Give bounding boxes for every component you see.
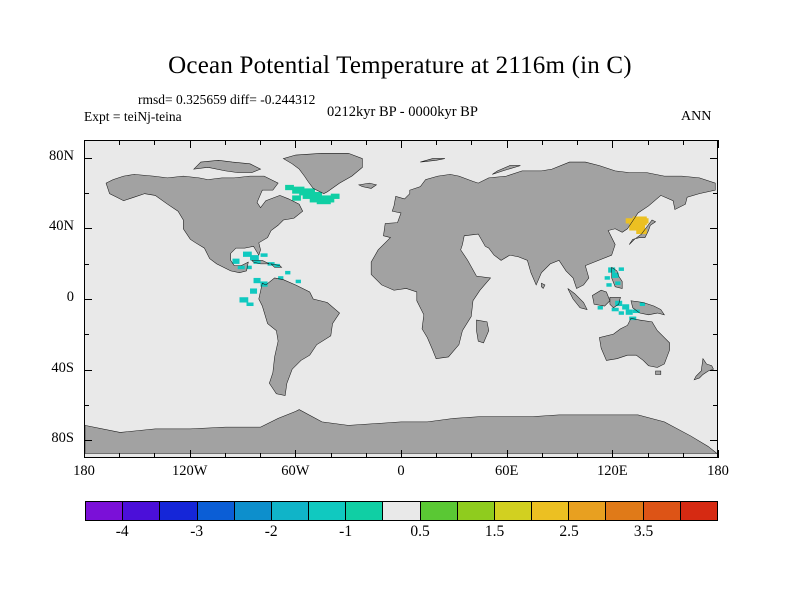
y-tick bbox=[84, 440, 92, 441]
anomaly-patch bbox=[232, 259, 239, 264]
colorbar-cell[interactable] bbox=[458, 502, 495, 520]
x-tick bbox=[154, 140, 155, 145]
anomaly-patch bbox=[250, 288, 257, 293]
anomaly-patch bbox=[615, 281, 620, 285]
x-tick bbox=[331, 453, 332, 458]
anomaly-patch bbox=[606, 283, 611, 287]
y-axis-label: 80N bbox=[22, 148, 74, 165]
world-map-svg bbox=[85, 141, 717, 457]
x-axis-label: 180 bbox=[49, 463, 119, 480]
anomaly-patch bbox=[296, 280, 301, 284]
colorbar-cell[interactable] bbox=[421, 502, 458, 520]
anomaly-patch bbox=[598, 306, 603, 310]
anomaly-patch bbox=[619, 267, 624, 271]
x-tick bbox=[260, 453, 261, 458]
x-axis-label: 0 bbox=[366, 463, 436, 480]
x-tick bbox=[683, 453, 684, 458]
colorbar-cell[interactable] bbox=[644, 502, 681, 520]
anomaly-patch bbox=[261, 253, 268, 257]
colorbar-tick-label: 2.5 bbox=[539, 523, 599, 541]
x-tick bbox=[366, 140, 367, 145]
experiment-label: Expt = teiNj-teina bbox=[84, 109, 182, 125]
anomaly-patch bbox=[640, 218, 649, 223]
x-tick bbox=[119, 140, 120, 145]
y-tick bbox=[84, 158, 92, 159]
y-tick bbox=[84, 228, 92, 229]
y-axis-label: 40N bbox=[22, 218, 74, 235]
anomaly-patch bbox=[238, 266, 245, 270]
x-tick bbox=[648, 140, 649, 145]
colorbar-cell[interactable] bbox=[606, 502, 643, 520]
y-tick bbox=[84, 264, 89, 265]
colorbar-cell[interactable] bbox=[309, 502, 346, 520]
landmass bbox=[194, 160, 261, 172]
colorbar-cell[interactable] bbox=[123, 502, 160, 520]
landmass bbox=[656, 371, 661, 375]
x-tick bbox=[190, 450, 191, 458]
x-tick bbox=[718, 450, 719, 458]
x-tick bbox=[577, 453, 578, 458]
x-tick bbox=[507, 450, 508, 458]
x-tick bbox=[295, 450, 296, 458]
colorbar-cell[interactable] bbox=[272, 502, 309, 520]
y-axis-label: 80S bbox=[22, 430, 74, 447]
x-tick bbox=[683, 140, 684, 145]
x-tick bbox=[507, 140, 508, 148]
colorbar-cell[interactable] bbox=[532, 502, 569, 520]
x-tick bbox=[648, 453, 649, 458]
anomaly-patch bbox=[285, 185, 294, 190]
x-tick bbox=[84, 140, 85, 148]
statistics-label: rmsd= 0.325659 diff= -0.244312 bbox=[138, 92, 315, 108]
y-tick bbox=[84, 299, 92, 300]
anomaly-patch bbox=[331, 194, 340, 199]
x-tick bbox=[436, 140, 437, 145]
anomaly-patch bbox=[605, 276, 610, 280]
y-axis-label: 0 bbox=[22, 289, 74, 306]
x-tick bbox=[119, 453, 120, 458]
anomaly-patch bbox=[239, 297, 248, 302]
landmass bbox=[85, 410, 717, 454]
x-tick bbox=[331, 140, 332, 145]
landmass bbox=[568, 288, 587, 309]
colorbar-cell[interactable] bbox=[383, 502, 420, 520]
colorbar[interactable] bbox=[85, 501, 718, 521]
colorbar-tick-label: -2 bbox=[241, 523, 301, 541]
x-tick bbox=[612, 450, 613, 458]
x-tick bbox=[401, 140, 402, 148]
y-tick bbox=[84, 193, 89, 194]
anomaly-patch bbox=[619, 311, 624, 315]
map-frame bbox=[84, 140, 718, 458]
landmass bbox=[371, 162, 715, 359]
x-axis-label: 120E bbox=[577, 463, 647, 480]
x-tick bbox=[154, 453, 155, 458]
x-tick bbox=[471, 140, 472, 145]
x-tick bbox=[718, 140, 719, 148]
y-tick bbox=[84, 370, 92, 371]
colorbar-cell[interactable] bbox=[346, 502, 383, 520]
colorbar-cell[interactable] bbox=[569, 502, 606, 520]
y-tick bbox=[710, 228, 718, 229]
colorbar-cell[interactable] bbox=[198, 502, 235, 520]
colorbar-tick-label: -3 bbox=[167, 523, 227, 541]
land-layer bbox=[85, 153, 717, 453]
map-plot-area bbox=[84, 140, 718, 458]
anomaly-patch bbox=[626, 310, 633, 315]
x-tick bbox=[295, 140, 296, 148]
colorbar-cell[interactable] bbox=[160, 502, 197, 520]
x-tick bbox=[612, 140, 613, 148]
landmass bbox=[476, 320, 488, 343]
x-axis-label: 120W bbox=[155, 463, 225, 480]
anomaly-patch bbox=[250, 255, 259, 260]
y-tick bbox=[84, 334, 89, 335]
x-tick bbox=[225, 140, 226, 145]
y-tick bbox=[710, 370, 718, 371]
season-label: ANN bbox=[681, 109, 711, 125]
x-axis-label: 180 bbox=[683, 463, 753, 480]
anomaly-patch bbox=[247, 303, 254, 307]
y-axis-label: 40S bbox=[22, 360, 74, 377]
x-axis-label: 60W bbox=[260, 463, 330, 480]
x-tick bbox=[225, 453, 226, 458]
x-tick bbox=[260, 140, 261, 145]
x-tick bbox=[190, 140, 191, 148]
x-tick bbox=[577, 140, 578, 145]
colorbar-tick-label: 0.5 bbox=[390, 523, 450, 541]
anomaly-patch bbox=[292, 195, 301, 200]
colorbar-tick-label: -4 bbox=[92, 523, 152, 541]
colorbar-cell[interactable] bbox=[495, 502, 532, 520]
anomaly-patch bbox=[285, 271, 290, 275]
y-tick bbox=[84, 405, 89, 406]
colorbar-tick-label: 1.5 bbox=[465, 523, 525, 541]
colorbar-tick-label: -1 bbox=[316, 523, 376, 541]
colorbar-cell[interactable] bbox=[235, 502, 272, 520]
anomaly-patch bbox=[254, 278, 261, 283]
x-tick bbox=[366, 453, 367, 458]
x-tick bbox=[436, 453, 437, 458]
x-tick bbox=[84, 450, 85, 458]
x-tick bbox=[471, 453, 472, 458]
landmass bbox=[106, 174, 303, 272]
x-tick bbox=[542, 453, 543, 458]
anomaly-patch bbox=[626, 218, 635, 223]
page-title: Ocean Potential Temperature at 2116m (in… bbox=[0, 52, 800, 80]
y-tick bbox=[713, 264, 718, 265]
y-tick bbox=[713, 193, 718, 194]
x-tick bbox=[401, 450, 402, 458]
y-tick bbox=[710, 299, 718, 300]
anomaly-patch bbox=[612, 308, 619, 312]
x-tick bbox=[542, 140, 543, 145]
period-label: 0212kyr BP - 0000kyr BP bbox=[327, 104, 478, 121]
y-tick bbox=[713, 405, 718, 406]
y-tick bbox=[713, 334, 718, 335]
x-axis-label: 60E bbox=[472, 463, 542, 480]
anomaly-patch bbox=[622, 304, 629, 309]
colorbar-cell[interactable] bbox=[681, 502, 717, 520]
colorbar-tick-label: 3.5 bbox=[614, 523, 674, 541]
colorbar-cell[interactable] bbox=[86, 502, 123, 520]
figure-canvas: Ocean Potential Temperature at 2116m (in… bbox=[0, 0, 800, 600]
y-tick bbox=[710, 440, 718, 441]
y-tick bbox=[710, 158, 718, 159]
